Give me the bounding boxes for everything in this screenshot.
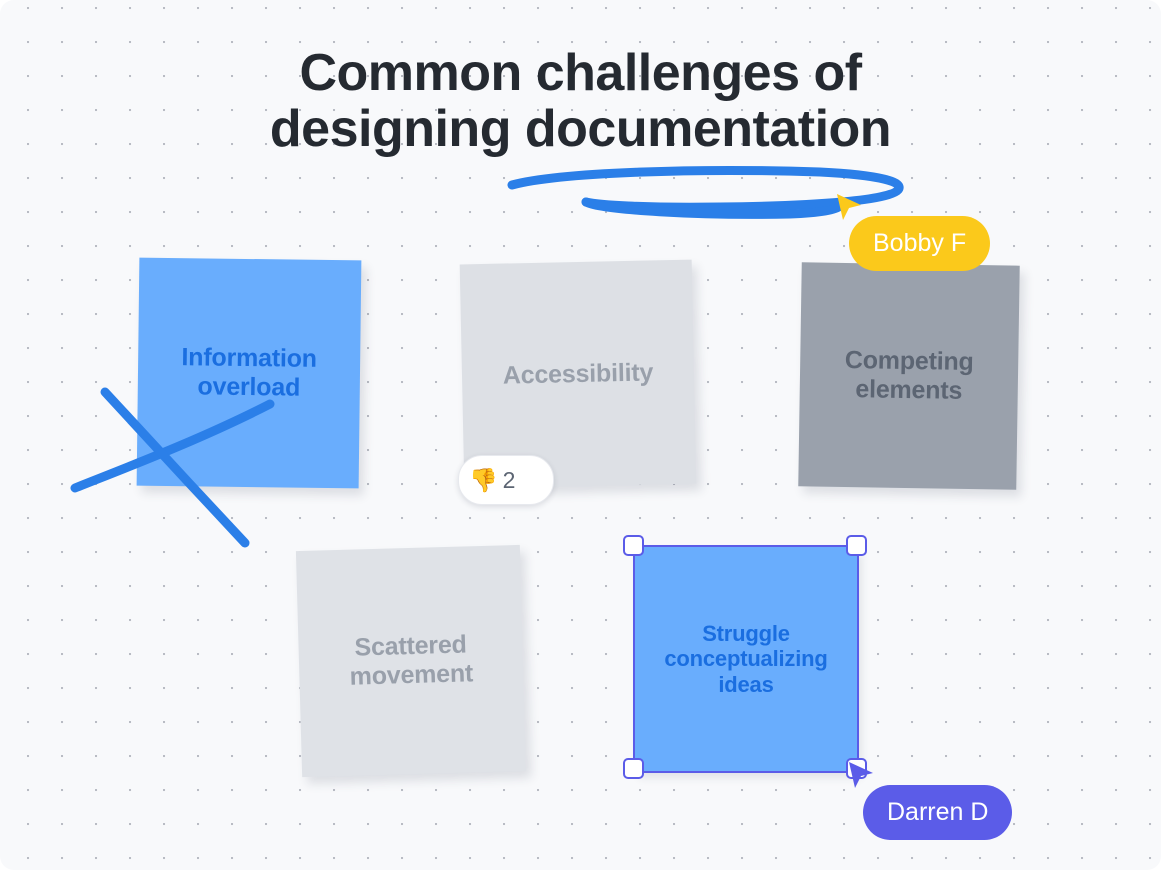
resize-handle-top-left[interactable]	[623, 535, 644, 556]
sticky-note-text: Scattered movement	[335, 630, 488, 692]
sticky-note-text: Competing elements	[830, 346, 988, 406]
sticky-note-text: Information overload	[167, 343, 331, 403]
cursor-arrow-icon	[834, 192, 864, 224]
collaborator-name-label: Bobby F	[849, 216, 990, 271]
reaction-count: 2	[503, 467, 516, 494]
reaction-badge-thumbs-down[interactable]: 👎 2	[458, 455, 554, 505]
page-title: Common challenges of designing documenta…	[0, 46, 1161, 157]
sticky-note-scattered-movement[interactable]: Scattered movement	[296, 545, 526, 777]
sticky-note-text: Accessibility	[489, 358, 668, 391]
thumbs-down-icon: 👎	[469, 469, 498, 492]
sticky-note-text: Struggle conceptualizing ideas	[650, 621, 841, 698]
sticky-note-information-overload[interactable]: Information overload	[137, 258, 362, 489]
whiteboard-canvas[interactable]: Common challenges of designing documenta…	[0, 0, 1161, 870]
resize-handle-bottom-left[interactable]	[623, 758, 644, 779]
sticky-note-struggle-conceptualizing[interactable]: Struggle conceptualizing ideas	[635, 547, 857, 771]
cursor-arrow-icon	[846, 760, 876, 792]
collaborator-name-label: Darren D	[863, 785, 1012, 840]
resize-handle-top-right[interactable]	[846, 535, 867, 556]
sticky-note-competing-elements[interactable]: Competing elements	[798, 262, 1019, 489]
